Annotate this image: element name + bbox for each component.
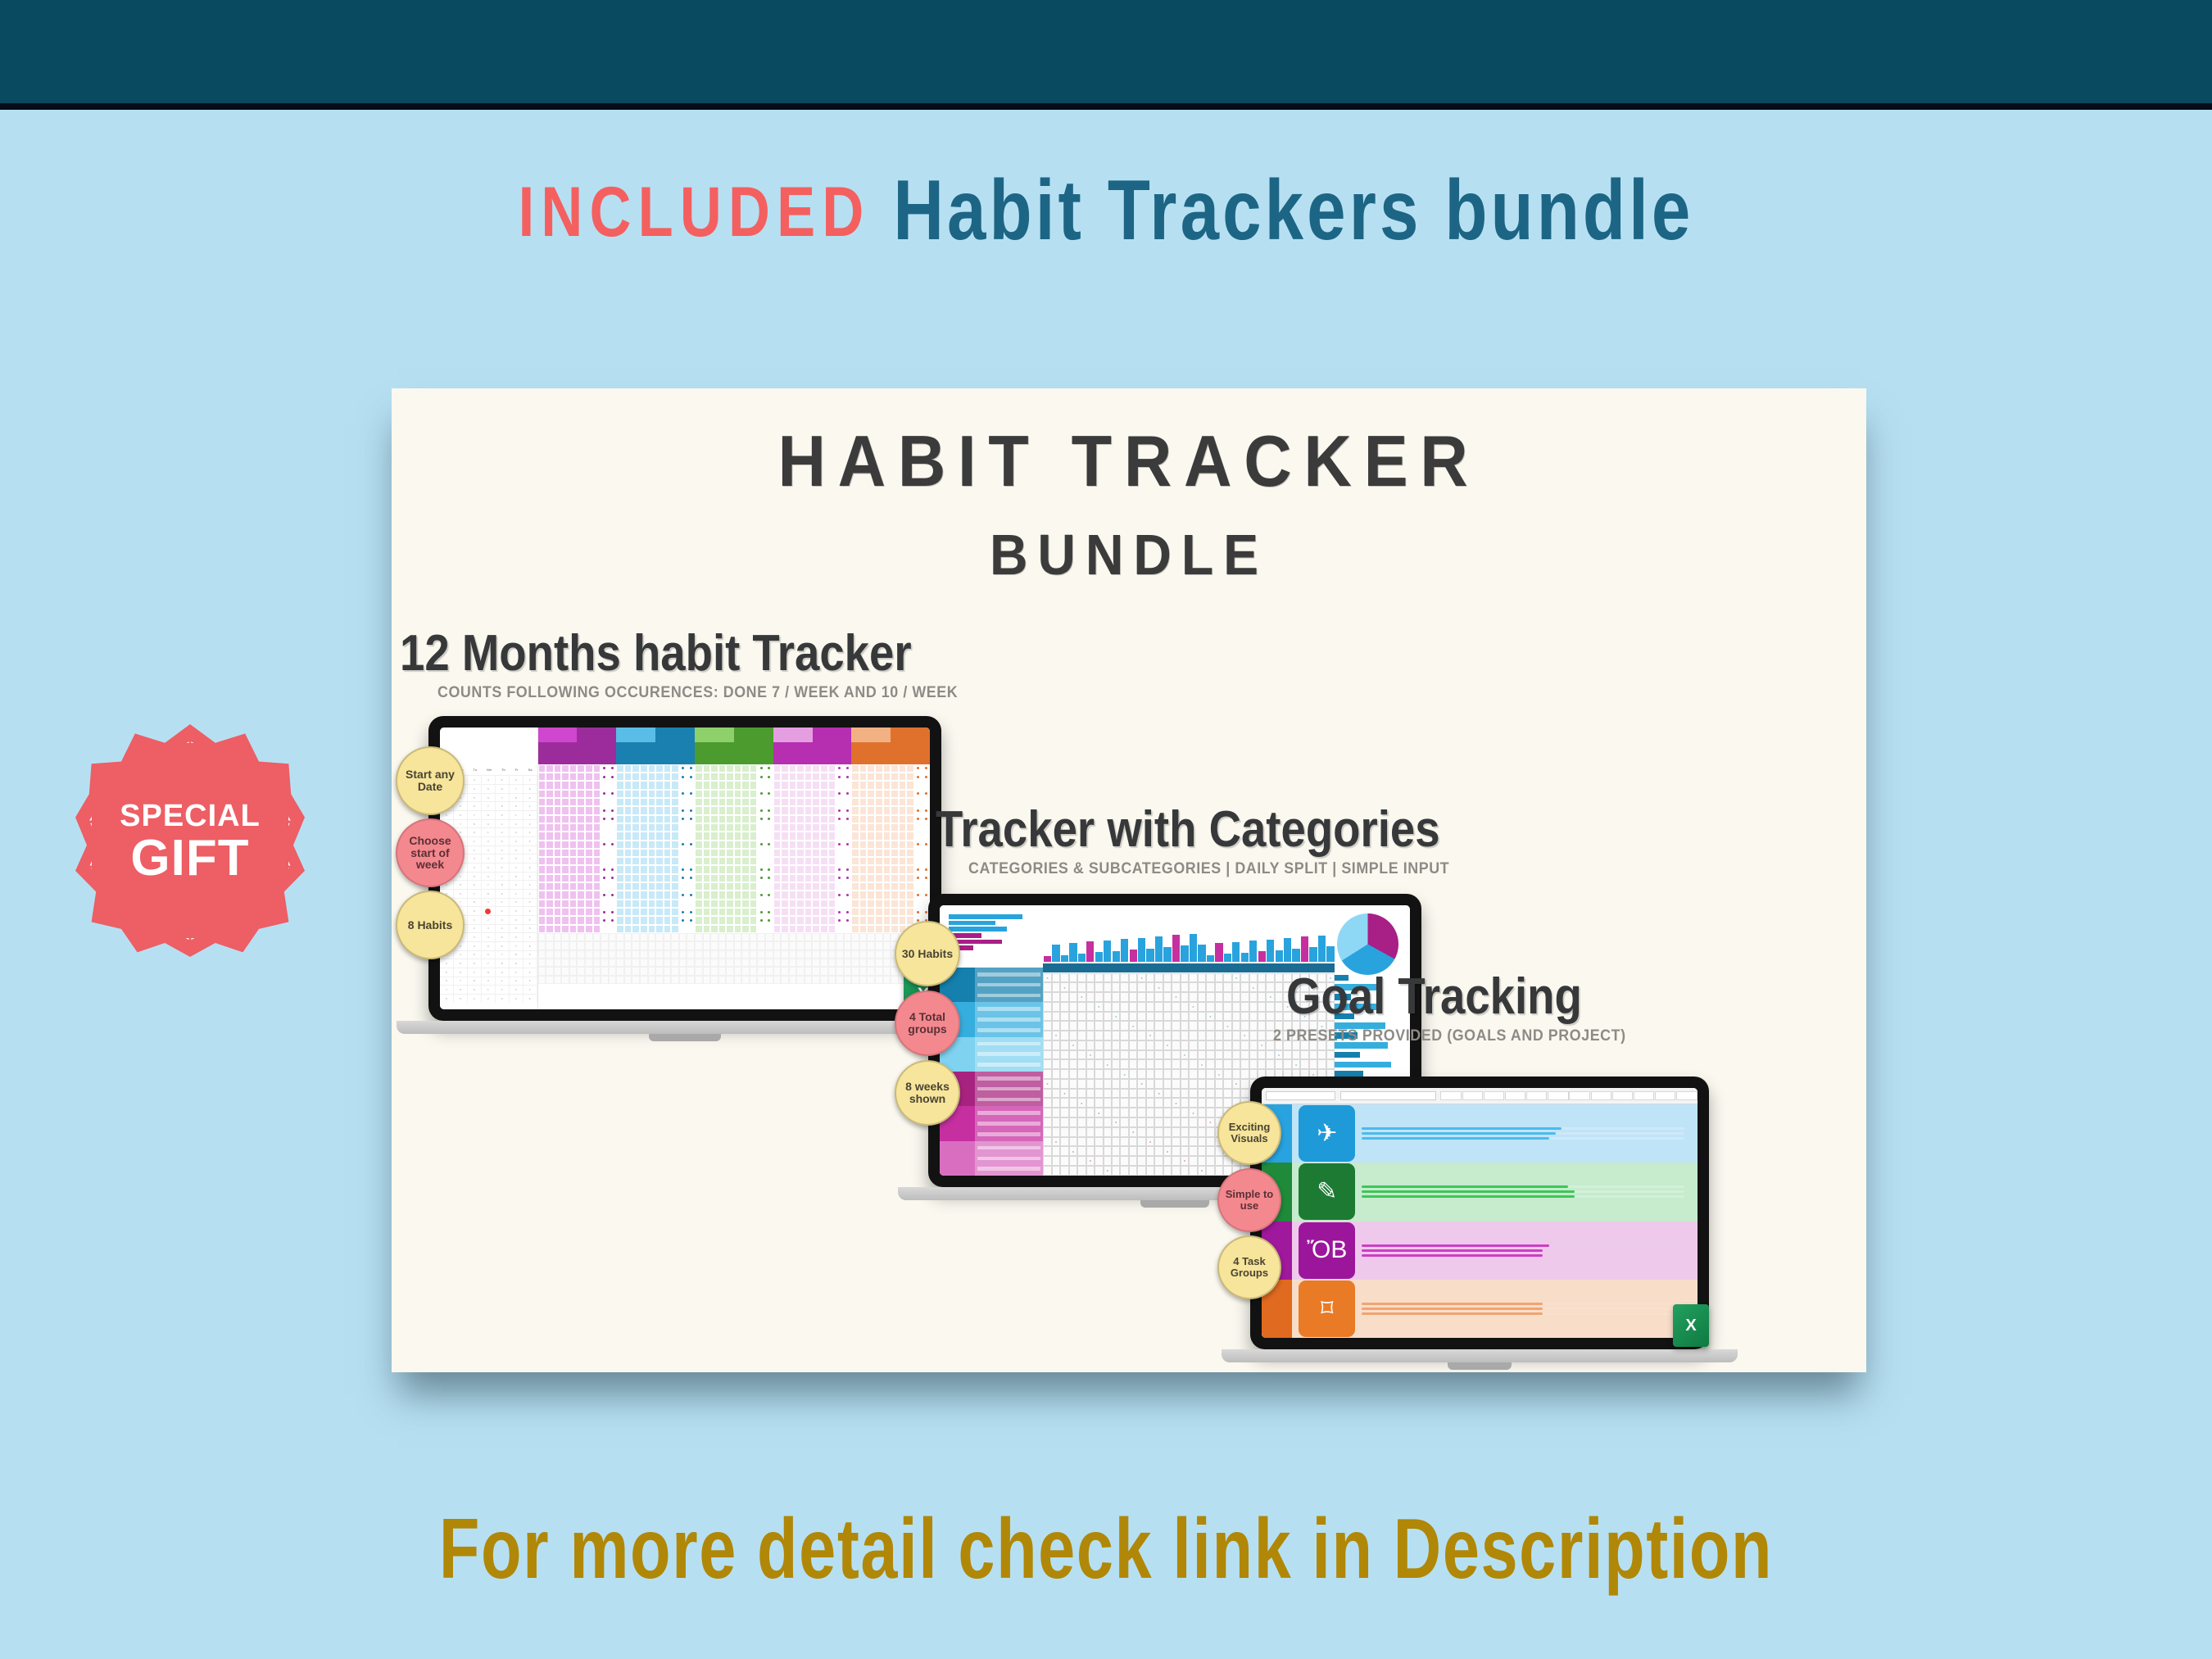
gift-badge-line1: SPECIAL <box>120 800 261 832</box>
page-title: INCLUDED Habit Trackers bundle <box>199 168 2013 253</box>
feature-badge: Simple to use <box>1217 1168 1281 1232</box>
top-banner-bar <box>0 0 2212 103</box>
feature-badge-label: 4 Task Groups <box>1222 1256 1276 1279</box>
feature-badge-label: Choose start of week <box>401 835 460 871</box>
feature-badge: 8 weeks shown <box>895 1060 960 1126</box>
top-banner-divider <box>0 103 2212 110</box>
feature-badge-label: 8 weeks shown <box>900 1081 955 1105</box>
feature-badge: 4 Task Groups <box>1217 1235 1281 1299</box>
special-gift-badge: SPECIAL GIFT <box>75 724 305 957</box>
feature-badge: Exciting Visuals <box>1217 1101 1281 1165</box>
feature-badge-label: Exciting Visuals <box>1222 1122 1276 1145</box>
headline-main-text: Habit Trackers bundle <box>893 163 1693 258</box>
gift-badge-line2: GIFT <box>130 832 249 884</box>
feature-badge-label: Start any Date <box>401 768 460 793</box>
footer-note: For more detail check link in Descriptio… <box>243 1501 1969 1598</box>
feature-badge-layer: Start any DateChoose start of week8 Habi… <box>392 388 1866 1372</box>
feature-badge-label: 4 Total groups <box>900 1011 955 1036</box>
feature-badge: Choose start of week <box>396 818 465 887</box>
feature-badge-label: 8 Habits <box>408 919 452 931</box>
feature-badge: 8 Habits <box>396 891 465 959</box>
feature-badge: 4 Total groups <box>895 990 960 1056</box>
special-gift-text: SPECIAL GIFT <box>75 724 305 957</box>
feature-badge: 30 Habits <box>895 921 960 986</box>
headline-included-word: INCLUDED <box>519 173 871 252</box>
product-preview-card: HABIT TRACKER BUNDLE 12 Months habit Tra… <box>392 388 1866 1372</box>
feature-badge: Start any Date <box>396 746 465 815</box>
feature-badge-label: 30 Habits <box>902 948 953 960</box>
feature-badge-label: Simple to use <box>1222 1189 1276 1212</box>
